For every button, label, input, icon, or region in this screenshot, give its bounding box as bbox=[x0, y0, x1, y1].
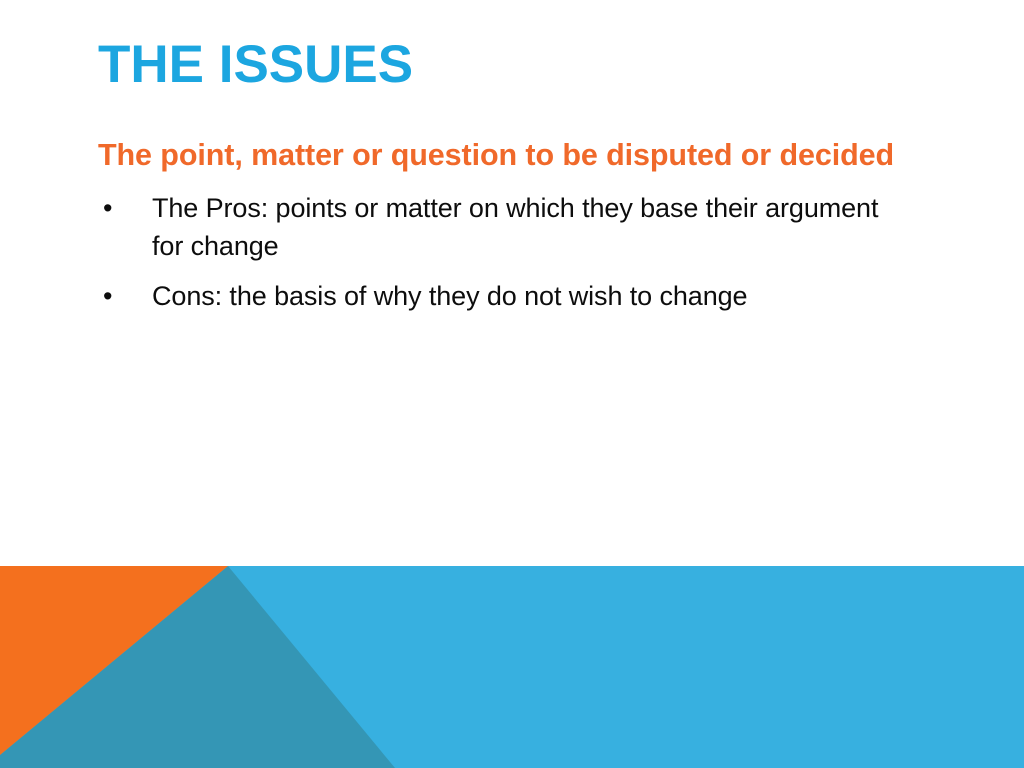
list-item-label: Cons: the basis of why they do not wish … bbox=[152, 281, 747, 311]
bullet-dot-icon: • bbox=[103, 277, 112, 315]
bullet-list: • The Pros: points or matter on which th… bbox=[98, 189, 910, 315]
list-item-label: The Pros: points or matter on which they… bbox=[152, 193, 878, 261]
list-item: • The Pros: points or matter on which th… bbox=[98, 189, 910, 265]
slide-subtitle: The point, matter or question to be disp… bbox=[98, 132, 910, 179]
footer-decoration-band bbox=[0, 566, 1024, 768]
slide-body: The point, matter or question to be disp… bbox=[98, 132, 910, 327]
page-title: The Issues bbox=[98, 36, 958, 94]
list-item: • Cons: the basis of why they do not wis… bbox=[98, 277, 910, 315]
bullet-dot-icon: • bbox=[103, 189, 112, 227]
slide: The Issues The point, matter or question… bbox=[0, 0, 1024, 768]
footer-triangles-graphic bbox=[0, 566, 1024, 768]
